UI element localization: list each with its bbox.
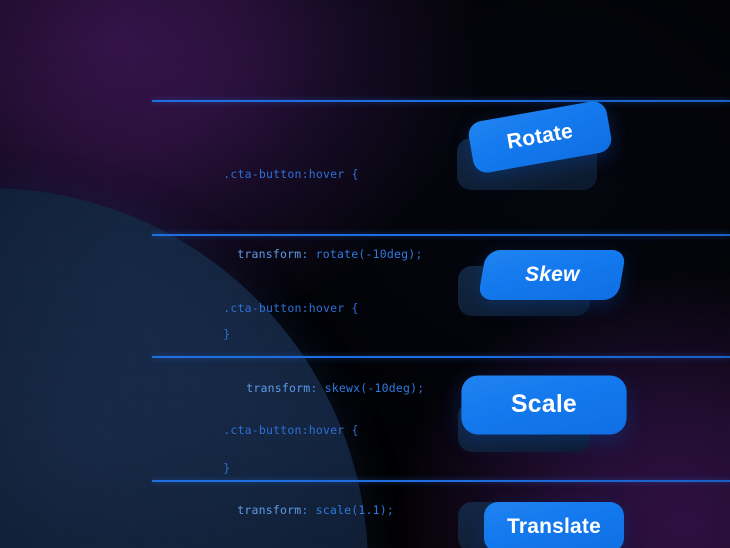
transform-showcase-stage: .cta-button:hover { transform: rotate(-1… bbox=[0, 0, 730, 548]
cta-button-label: Translate bbox=[507, 515, 601, 539]
cta-button-label: Skew bbox=[525, 263, 580, 287]
cta-button-skew[interactable]: Skew bbox=[478, 250, 627, 300]
code-open-brace: { bbox=[351, 301, 358, 315]
button-area-scale: Scale bbox=[440, 356, 730, 480]
button-area-translate: Translate bbox=[440, 480, 730, 548]
code-selector: .cta-button:hover bbox=[223, 167, 344, 181]
code-open-brace: { bbox=[351, 423, 358, 437]
cta-button-label: Rotate bbox=[505, 119, 575, 154]
button-area-skew: Skew bbox=[440, 234, 730, 356]
code-selector: .cta-button:hover bbox=[223, 423, 344, 437]
cta-button-translate[interactable]: Translate bbox=[484, 502, 624, 548]
code-selector: .cta-button:hover bbox=[223, 301, 344, 315]
code-open-brace: { bbox=[351, 167, 358, 181]
transform-row-translate: .cta-button:hover { transform: translate… bbox=[0, 480, 730, 548]
transform-rows: .cta-button:hover { transform: rotate(-1… bbox=[0, 0, 730, 548]
transform-row-rotate: .cta-button:hover { transform: rotate(-1… bbox=[0, 100, 730, 234]
code-snippet-translate: .cta-button:hover { transform: translate… bbox=[152, 498, 437, 548]
cta-button-label: Scale bbox=[511, 391, 577, 419]
transform-row-scale: .cta-button:hover { transform: scale(1.1… bbox=[0, 356, 730, 480]
transform-row-skew: .cta-button:hover { transform: skewx(-10… bbox=[0, 234, 730, 356]
cta-button-scale[interactable]: Scale bbox=[461, 376, 626, 435]
button-area-rotate: Rotate bbox=[440, 100, 730, 234]
